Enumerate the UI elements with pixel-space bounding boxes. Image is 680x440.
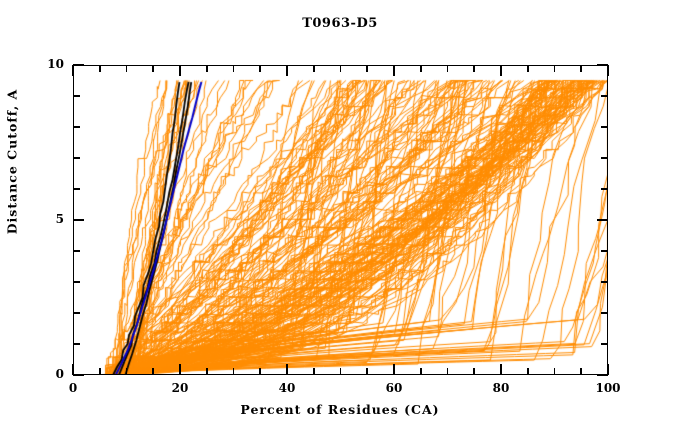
x-tick <box>473 368 475 375</box>
x-tick-label: 100 <box>578 381 638 395</box>
x-tick <box>554 65 556 72</box>
x-tick <box>233 368 235 375</box>
x-tick <box>366 368 368 375</box>
x-tick-label: 20 <box>150 381 210 395</box>
y-tick <box>601 126 608 128</box>
x-tick <box>126 368 128 375</box>
y-tick <box>73 219 84 221</box>
x-tick <box>152 65 154 72</box>
x-tick <box>99 65 101 72</box>
y-tick-label: 0 <box>24 367 64 381</box>
x-tick <box>72 364 74 375</box>
axes-frame <box>73 65 608 375</box>
x-tick <box>152 368 154 375</box>
y-axis-title: Distance Cutoff, A <box>5 0 20 342</box>
x-tick <box>366 65 368 72</box>
x-tick <box>473 65 475 72</box>
y-tick <box>601 343 608 345</box>
y-tick <box>73 157 80 159</box>
x-tick <box>447 368 449 375</box>
x-tick-label: 40 <box>257 381 317 395</box>
x-tick <box>233 65 235 72</box>
x-tick <box>420 65 422 72</box>
y-tick <box>73 250 80 252</box>
x-tick <box>393 65 395 76</box>
x-tick <box>340 368 342 375</box>
x-tick <box>286 65 288 76</box>
y-tick <box>601 188 608 190</box>
x-tick <box>527 368 529 375</box>
y-tick <box>601 312 608 314</box>
x-tick <box>447 65 449 72</box>
y-tick <box>597 219 608 221</box>
x-tick <box>206 65 208 72</box>
x-tick <box>206 368 208 375</box>
x-tick <box>179 364 181 375</box>
y-tick <box>73 374 84 376</box>
x-tick <box>259 368 261 375</box>
y-tick <box>73 281 80 283</box>
x-tick <box>179 65 181 76</box>
y-tick <box>73 126 80 128</box>
x-tick <box>500 364 502 375</box>
x-tick <box>126 65 128 72</box>
y-tick-label: 5 <box>24 212 64 226</box>
plot-area <box>73 65 608 375</box>
chart-root: T0963-D5 0510 020406080100 Distance Cuto… <box>0 0 680 440</box>
y-tick <box>601 157 608 159</box>
x-tick <box>580 65 582 72</box>
x-tick <box>99 368 101 375</box>
x-tick <box>554 368 556 375</box>
x-tick <box>286 364 288 375</box>
y-tick <box>73 343 80 345</box>
y-tick <box>73 64 84 66</box>
x-tick-label: 80 <box>471 381 531 395</box>
x-tick <box>313 65 315 72</box>
chart-title: T0963-D5 <box>0 16 680 31</box>
x-tick <box>72 65 74 76</box>
x-tick <box>340 65 342 72</box>
x-tick <box>527 65 529 72</box>
y-tick <box>601 95 608 97</box>
x-tick-label: 0 <box>43 381 103 395</box>
x-axis-title: Percent of Residues (CA) <box>0 402 680 417</box>
y-tick <box>73 188 80 190</box>
x-tick-label: 60 <box>364 381 424 395</box>
y-tick <box>601 250 608 252</box>
y-tick <box>601 281 608 283</box>
x-tick <box>607 65 609 76</box>
x-tick <box>393 364 395 375</box>
x-tick <box>313 368 315 375</box>
x-tick <box>607 364 609 375</box>
x-tick <box>580 368 582 375</box>
y-tick <box>73 95 80 97</box>
x-tick <box>259 65 261 72</box>
x-tick <box>420 368 422 375</box>
x-tick <box>500 65 502 76</box>
y-tick <box>73 312 80 314</box>
y-tick-label: 10 <box>24 57 64 71</box>
